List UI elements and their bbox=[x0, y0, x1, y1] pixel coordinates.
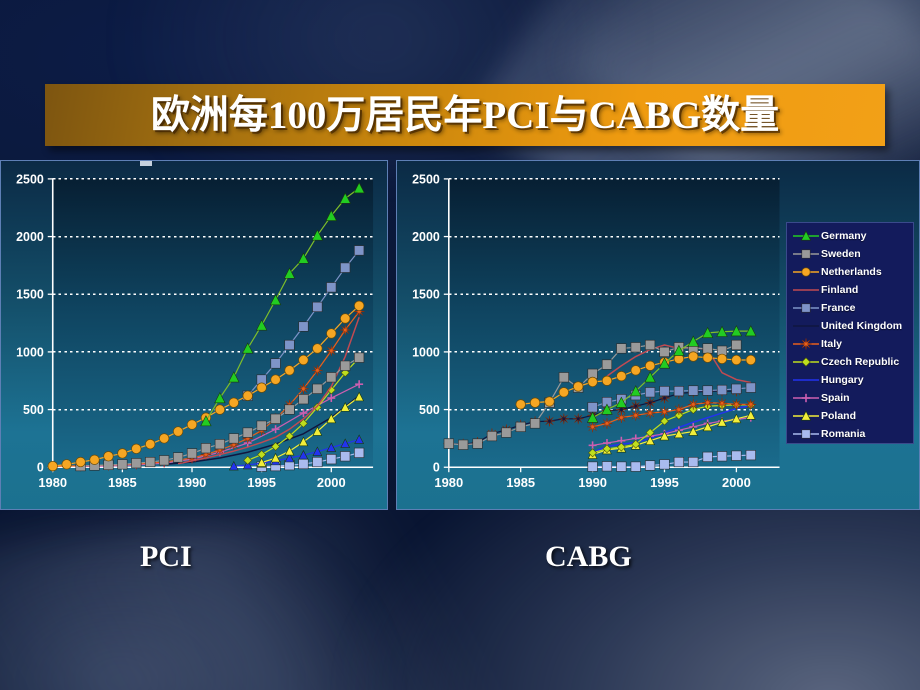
svg-text:2500: 2500 bbox=[16, 172, 44, 186]
svg-text:1500: 1500 bbox=[412, 288, 440, 302]
legend-item-netherlands[interactable]: Netherlands bbox=[791, 263, 910, 281]
legend-item-poland[interactable]: Poland bbox=[791, 407, 910, 425]
svg-text:1000: 1000 bbox=[16, 345, 44, 359]
pci-chart-svg: 0500100015002000250019801985199019952000 bbox=[1, 161, 387, 509]
svg-text:1995: 1995 bbox=[650, 475, 679, 490]
legend-label: Netherlands bbox=[821, 266, 882, 278]
svg-text:2000: 2000 bbox=[722, 475, 751, 490]
legend-marker-cross-icon bbox=[791, 391, 821, 405]
legend-item-sweden[interactable]: Sweden bbox=[791, 245, 910, 263]
svg-text:0: 0 bbox=[433, 461, 440, 475]
legend-label: France bbox=[821, 302, 855, 314]
legend-marker-star-icon bbox=[791, 337, 821, 351]
legend-marker-none-icon bbox=[791, 319, 821, 333]
svg-text:1500: 1500 bbox=[16, 288, 44, 302]
svg-text:1990: 1990 bbox=[578, 475, 607, 490]
svg-text:0: 0 bbox=[37, 461, 44, 475]
legend-marker-circle-icon bbox=[791, 265, 821, 279]
caption-pci: PCI bbox=[140, 540, 192, 574]
legend-marker-triangle-icon bbox=[791, 409, 821, 423]
svg-text:1995: 1995 bbox=[247, 475, 276, 490]
svg-text:500: 500 bbox=[419, 403, 440, 417]
legend-marker-diamond-icon bbox=[791, 355, 821, 369]
legend-item-czech-republic[interactable]: Czech Republic bbox=[791, 353, 910, 371]
legend-label: Finland bbox=[821, 284, 858, 296]
legend-label: Czech Republic bbox=[821, 356, 899, 368]
slide-canvas: 欧洲每100万居民年PCI与CABG数量 0500100015002000250… bbox=[0, 0, 920, 690]
svg-text:1990: 1990 bbox=[178, 475, 207, 490]
page-title: 欧洲每100万居民年PCI与CABG数量 bbox=[151, 96, 779, 135]
pci-plot-area: 0500100015002000250019801985199019952000 bbox=[1, 161, 387, 509]
legend-marker-square-icon bbox=[791, 247, 821, 261]
legend-label: Romania bbox=[821, 428, 865, 440]
svg-text:1980: 1980 bbox=[38, 475, 67, 490]
title-banner: 欧洲每100万居民年PCI与CABG数量 bbox=[45, 84, 885, 146]
legend-item-germany[interactable]: Germany bbox=[791, 227, 910, 245]
svg-text:500: 500 bbox=[23, 403, 44, 417]
svg-text:2000: 2000 bbox=[412, 230, 440, 244]
svg-text:1985: 1985 bbox=[506, 475, 535, 490]
legend-label: Poland bbox=[821, 410, 856, 422]
legend-marker-none-icon bbox=[791, 283, 821, 297]
legend-label: Hungary bbox=[821, 374, 864, 386]
legend-item-hungary[interactable]: Hungary bbox=[791, 371, 910, 389]
legend-marker-none-icon bbox=[791, 373, 821, 387]
svg-text:2500: 2500 bbox=[412, 172, 440, 186]
legend-item-spain[interactable]: Spain bbox=[791, 389, 910, 407]
legend-label: Sweden bbox=[821, 248, 861, 260]
chart-legend: GermanySwedenNetherlandsFinlandFranceUni… bbox=[786, 222, 914, 444]
legend-marker-triangle-icon bbox=[791, 229, 821, 243]
svg-text:2000: 2000 bbox=[16, 230, 44, 244]
legend-label: Italy bbox=[821, 338, 842, 350]
svg-text:2000: 2000 bbox=[317, 475, 346, 490]
svg-text:1000: 1000 bbox=[412, 345, 440, 359]
legend-marker-square-icon bbox=[791, 301, 821, 315]
legend-label: United Kingdom bbox=[821, 320, 902, 332]
chart-panel-pci: 0500100015002000250019801985199019952000 bbox=[0, 160, 388, 510]
legend-label: Germany bbox=[821, 230, 867, 242]
svg-text:1980: 1980 bbox=[434, 475, 463, 490]
legend-label: Spain bbox=[821, 392, 850, 404]
legend-item-united-kingdom[interactable]: United Kingdom bbox=[791, 317, 910, 335]
legend-item-france[interactable]: France bbox=[791, 299, 910, 317]
legend-item-finland[interactable]: Finland bbox=[791, 281, 910, 299]
caption-cabg: CABG bbox=[545, 540, 632, 574]
legend-marker-square-icon bbox=[791, 427, 821, 441]
svg-text:1985: 1985 bbox=[108, 475, 137, 490]
legend-item-italy[interactable]: Italy bbox=[791, 335, 910, 353]
cropped-title-remnant bbox=[140, 161, 152, 166]
legend-item-romania[interactable]: Romania bbox=[791, 425, 910, 443]
